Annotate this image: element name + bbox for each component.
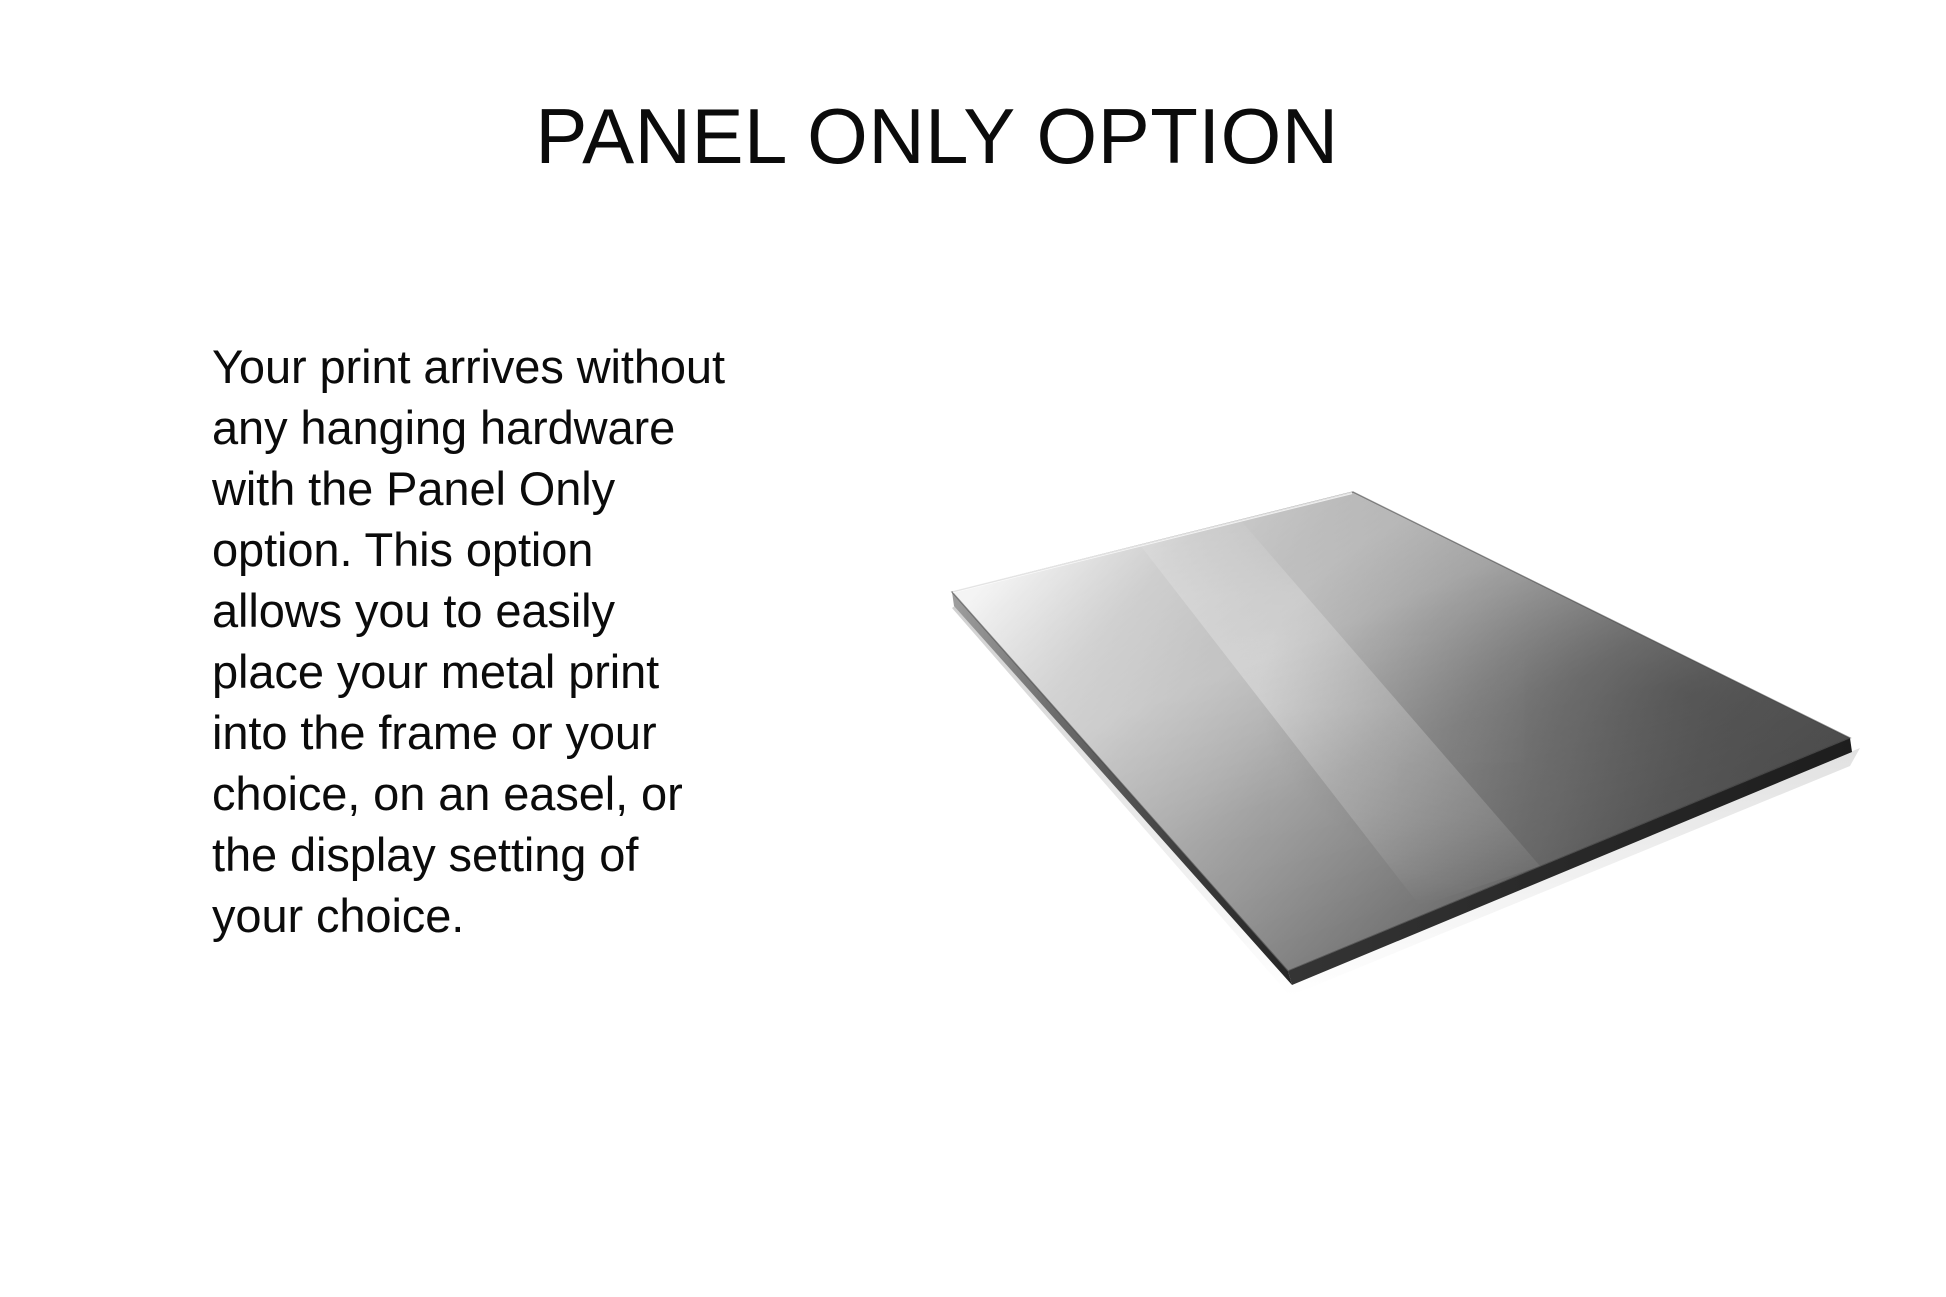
body-text-line: into the frame or your xyxy=(212,702,682,763)
body-text-line: your choice. xyxy=(212,885,682,946)
page-title: PANEL ONLY OPTION xyxy=(0,88,1910,184)
body-text-block: Your print arrives without any hanging h… xyxy=(212,336,682,946)
metal-panel-image xyxy=(900,436,1910,1016)
body-text-line: choice, on an easel, or xyxy=(212,763,682,824)
body-text-line: allows you to easily xyxy=(212,580,682,641)
slide-canvas: PANEL ONLY OPTION Your print arrives wit… xyxy=(0,0,1946,1297)
body-text-line: place your metal print xyxy=(212,641,682,702)
body-text-line: with the Panel Only xyxy=(212,458,682,519)
body-text-line: any hanging hardware xyxy=(212,397,682,458)
body-text-line: option. This option xyxy=(212,519,682,580)
body-text-line: Your print arrives without xyxy=(212,336,682,397)
body-text-line: the display setting of xyxy=(212,824,682,885)
